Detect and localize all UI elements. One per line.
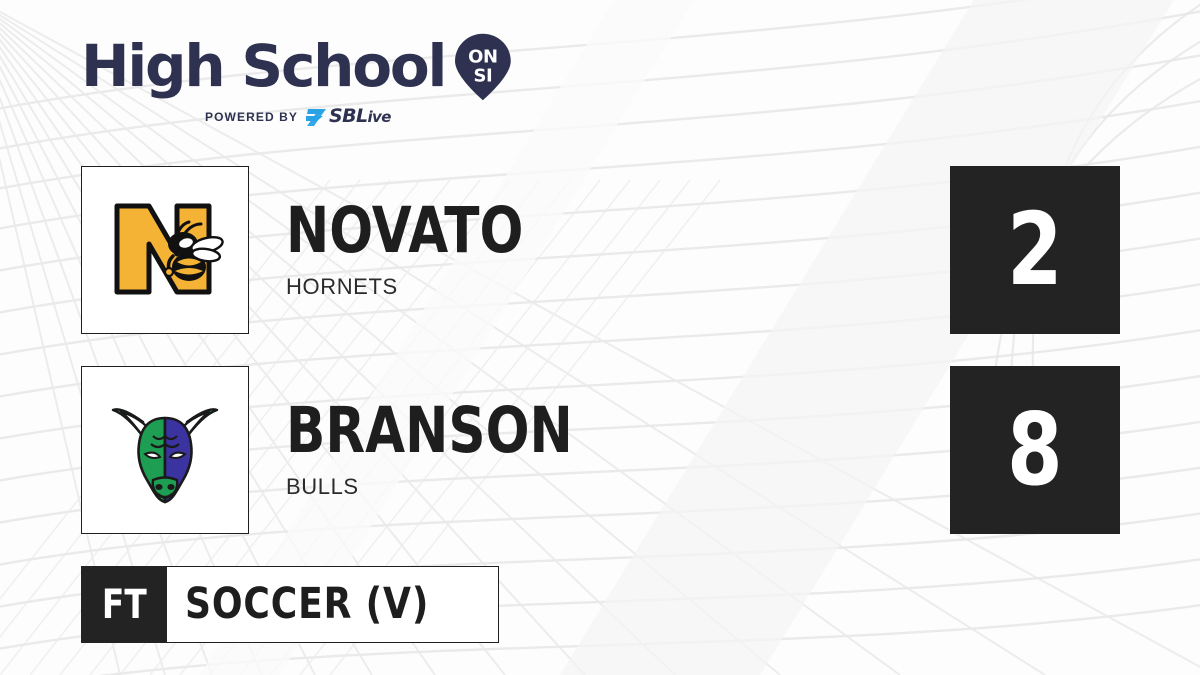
powered-by-label: POWERED BY — [205, 110, 298, 124]
status-code-box: FT — [81, 566, 167, 643]
team-name: NOVATO — [286, 200, 523, 262]
status-code-label: FT — [102, 585, 147, 625]
on-si-pin-icon: ON SI — [455, 30, 511, 104]
sblive-logo: SBLive — [306, 107, 391, 127]
team-score-box: 2 — [950, 166, 1120, 334]
sport-label-box: SOCCER (V) — [167, 566, 499, 643]
sport-label: SOCCER (V) — [185, 583, 429, 626]
pin-line-1-text: ON — [468, 47, 497, 68]
pin-line-2-text: SI — [474, 65, 493, 86]
team-row: BRANSON BULLS — [81, 366, 961, 534]
team-name: BRANSON — [286, 400, 573, 462]
team-score: 8 — [1007, 400, 1063, 500]
scoreboard-graphic: High School ON SI POWERED BY SBLive — [0, 0, 1200, 675]
sblive-main-text: SBL — [329, 105, 367, 127]
team-text-block: BRANSON BULLS — [286, 366, 636, 534]
team-text-block: NOVATO HORNETS — [286, 166, 575, 334]
sblive-wordmark: SBLive — [329, 107, 391, 127]
branson-bulls-logo-icon — [103, 388, 227, 512]
team-logo-box — [81, 366, 249, 534]
novato-hornets-logo-icon — [103, 188, 227, 312]
brand-header: High School ON SI POWERED BY SBLive — [81, 30, 511, 140]
team-mascot: BULLS — [286, 474, 636, 500]
brand-title-row: High School ON SI — [81, 30, 511, 102]
brand-wordmark: High School — [81, 35, 445, 97]
team-mascot: HORNETS — [286, 274, 575, 300]
team-score: 2 — [1007, 200, 1063, 300]
team-logo-box — [81, 166, 249, 334]
sblive-suffix-text: ive — [368, 108, 391, 126]
sblive-bolt-icon — [306, 108, 328, 127]
powered-by-row: POWERED BY SBLive — [205, 107, 511, 127]
game-status-bar: FT SOCCER (V) — [81, 566, 499, 643]
team-score-box: 8 — [950, 366, 1120, 534]
team-row: NOVATO HORNETS — [81, 166, 961, 334]
